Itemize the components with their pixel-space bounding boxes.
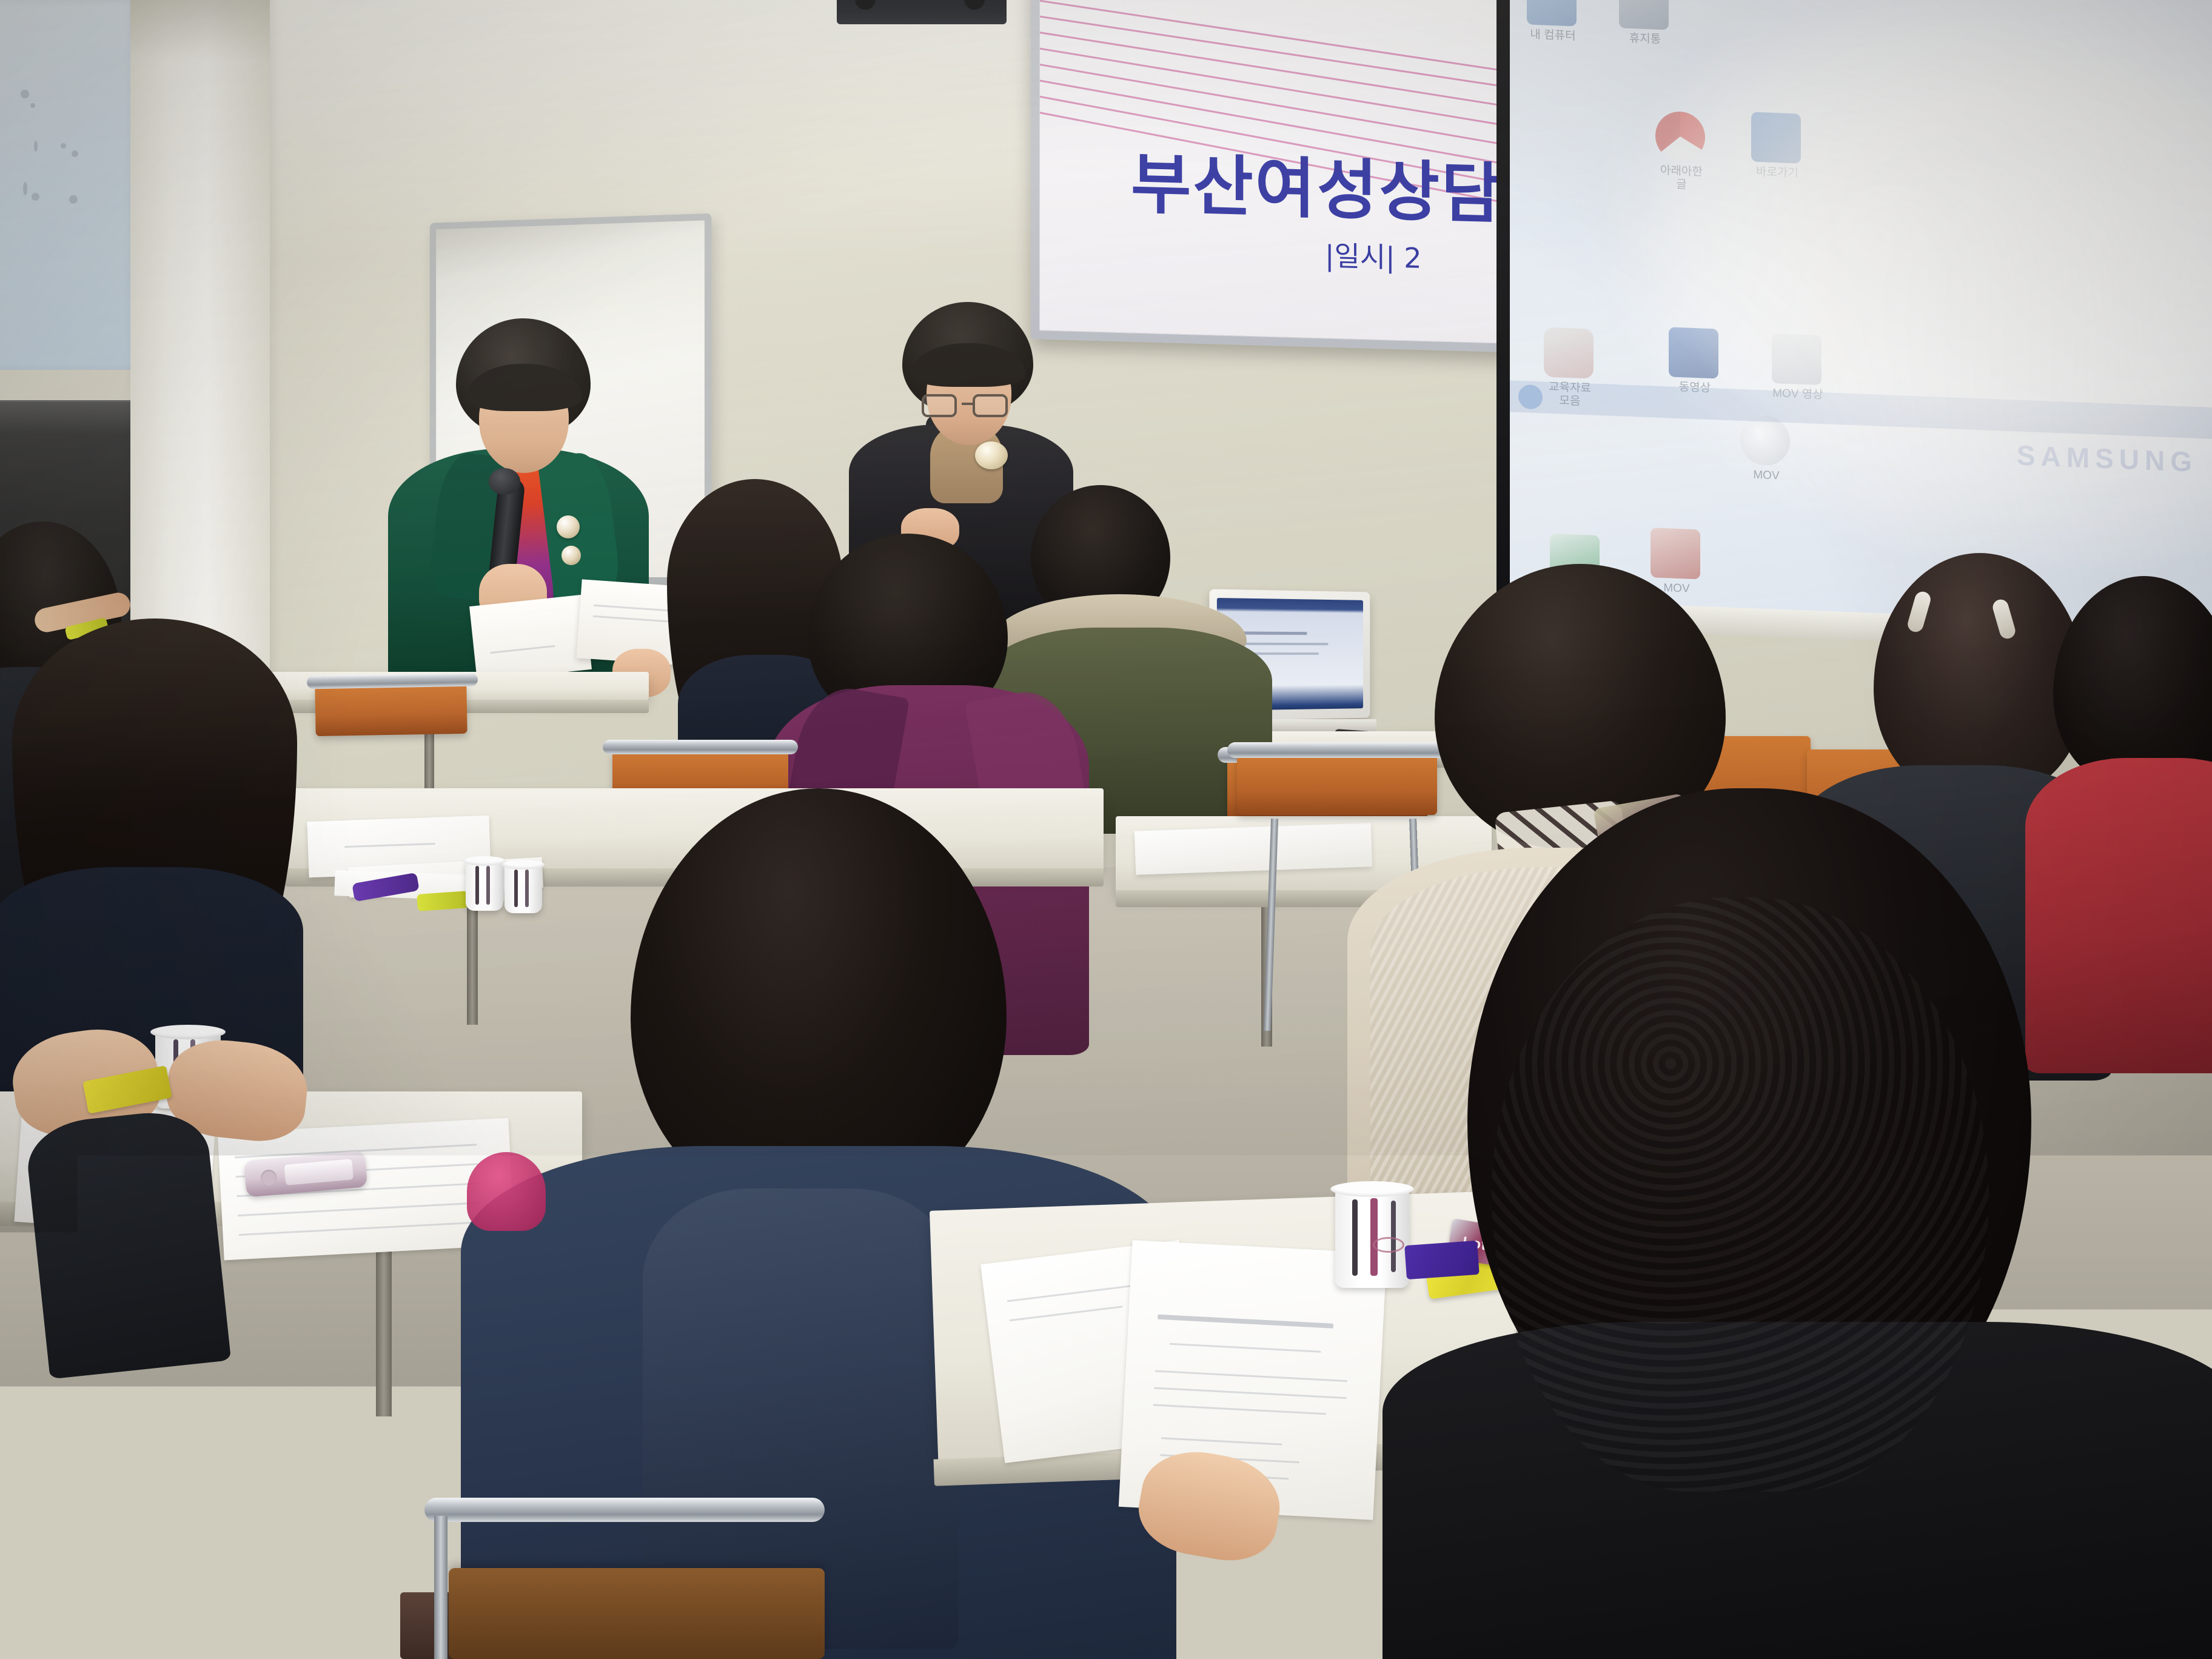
desktop-icon-label: MOV <box>1740 468 1792 483</box>
chair-rail <box>424 1498 825 1522</box>
event-banner-board: 부산여성상담 |일시| 2 <box>1031 0 1510 352</box>
chair-rail <box>1227 742 1447 758</box>
desktop-icon-label: 아래아한글 <box>1655 164 1708 193</box>
attendee-sleeve-arm <box>24 1107 231 1379</box>
highlighter-pen[interactable] <box>417 891 469 911</box>
pink-bag[interactable] <box>467 1152 546 1231</box>
banner-subtitle: |일시| 2 <box>1325 234 1422 276</box>
chair-rail <box>603 740 798 754</box>
flower-brooch <box>975 441 1008 469</box>
start-button-icon[interactable] <box>1518 384 1543 410</box>
windows-taskbar[interactable] <box>1510 380 2212 439</box>
open-booklet-left-page <box>469 594 592 681</box>
eyeglasses-right-lens-icon <box>973 394 1008 417</box>
handout-sheet[interactable] <box>1134 823 1372 875</box>
attendee-red-jacket-body <box>2025 758 2212 1073</box>
desktop-icon-label: 바로가기 <box>1751 166 1803 181</box>
handheld-microphone-head <box>489 468 520 495</box>
speaker-brooch-upper <box>557 515 580 538</box>
samsung-watermark: SAMSUNG <box>2017 438 2197 478</box>
structural-column <box>130 0 270 716</box>
desk-bottom-left <box>0 1589 412 1659</box>
paper-cup-rim <box>150 1025 226 1039</box>
chair-leg <box>434 1516 447 1659</box>
paper-cup-rim <box>1330 1181 1414 1197</box>
eyeglasses-left-lens-icon <box>922 394 957 417</box>
desktop-icon-label: 휴지통 <box>1619 32 1671 47</box>
paper-cup[interactable] <box>1335 1187 1409 1288</box>
column-shadow <box>130 0 270 61</box>
chair-seat-cushion[interactable] <box>449 1568 825 1659</box>
chair-back[interactable] <box>1237 754 1437 815</box>
ceiling-speaker <box>837 0 1007 24</box>
chair-back[interactable] <box>315 683 467 736</box>
speaker-brooch-lower <box>561 546 581 565</box>
paper-cup[interactable] <box>504 863 542 913</box>
cabinet-highlight <box>0 400 139 434</box>
banner-title: 부산여성상담 <box>1131 132 1501 236</box>
curly-hair-texture <box>1492 897 1989 1492</box>
projection-screen[interactable]: 내 컴퓨터 휴지통 아래아한글 바로가기 교육자료 모음 동영상 MOV 영상 <box>1510 0 2212 632</box>
desktop-icon-label: 내 컴퓨터 <box>1527 28 1579 43</box>
paper-cup-rim <box>463 856 506 866</box>
eyeglasses-bridge <box>962 403 975 405</box>
paper-cup-rim <box>502 860 545 870</box>
seminar-room-photo: BRD 부산여성상담 |일시| 2 내 컴퓨터 휴지통 아래아한글 <box>0 0 2212 1659</box>
banner-face: 부산여성상담 |일시| 2 <box>1039 0 1501 344</box>
snack-wrapper-purple <box>1404 1241 1480 1279</box>
paper-cup[interactable] <box>466 860 503 911</box>
